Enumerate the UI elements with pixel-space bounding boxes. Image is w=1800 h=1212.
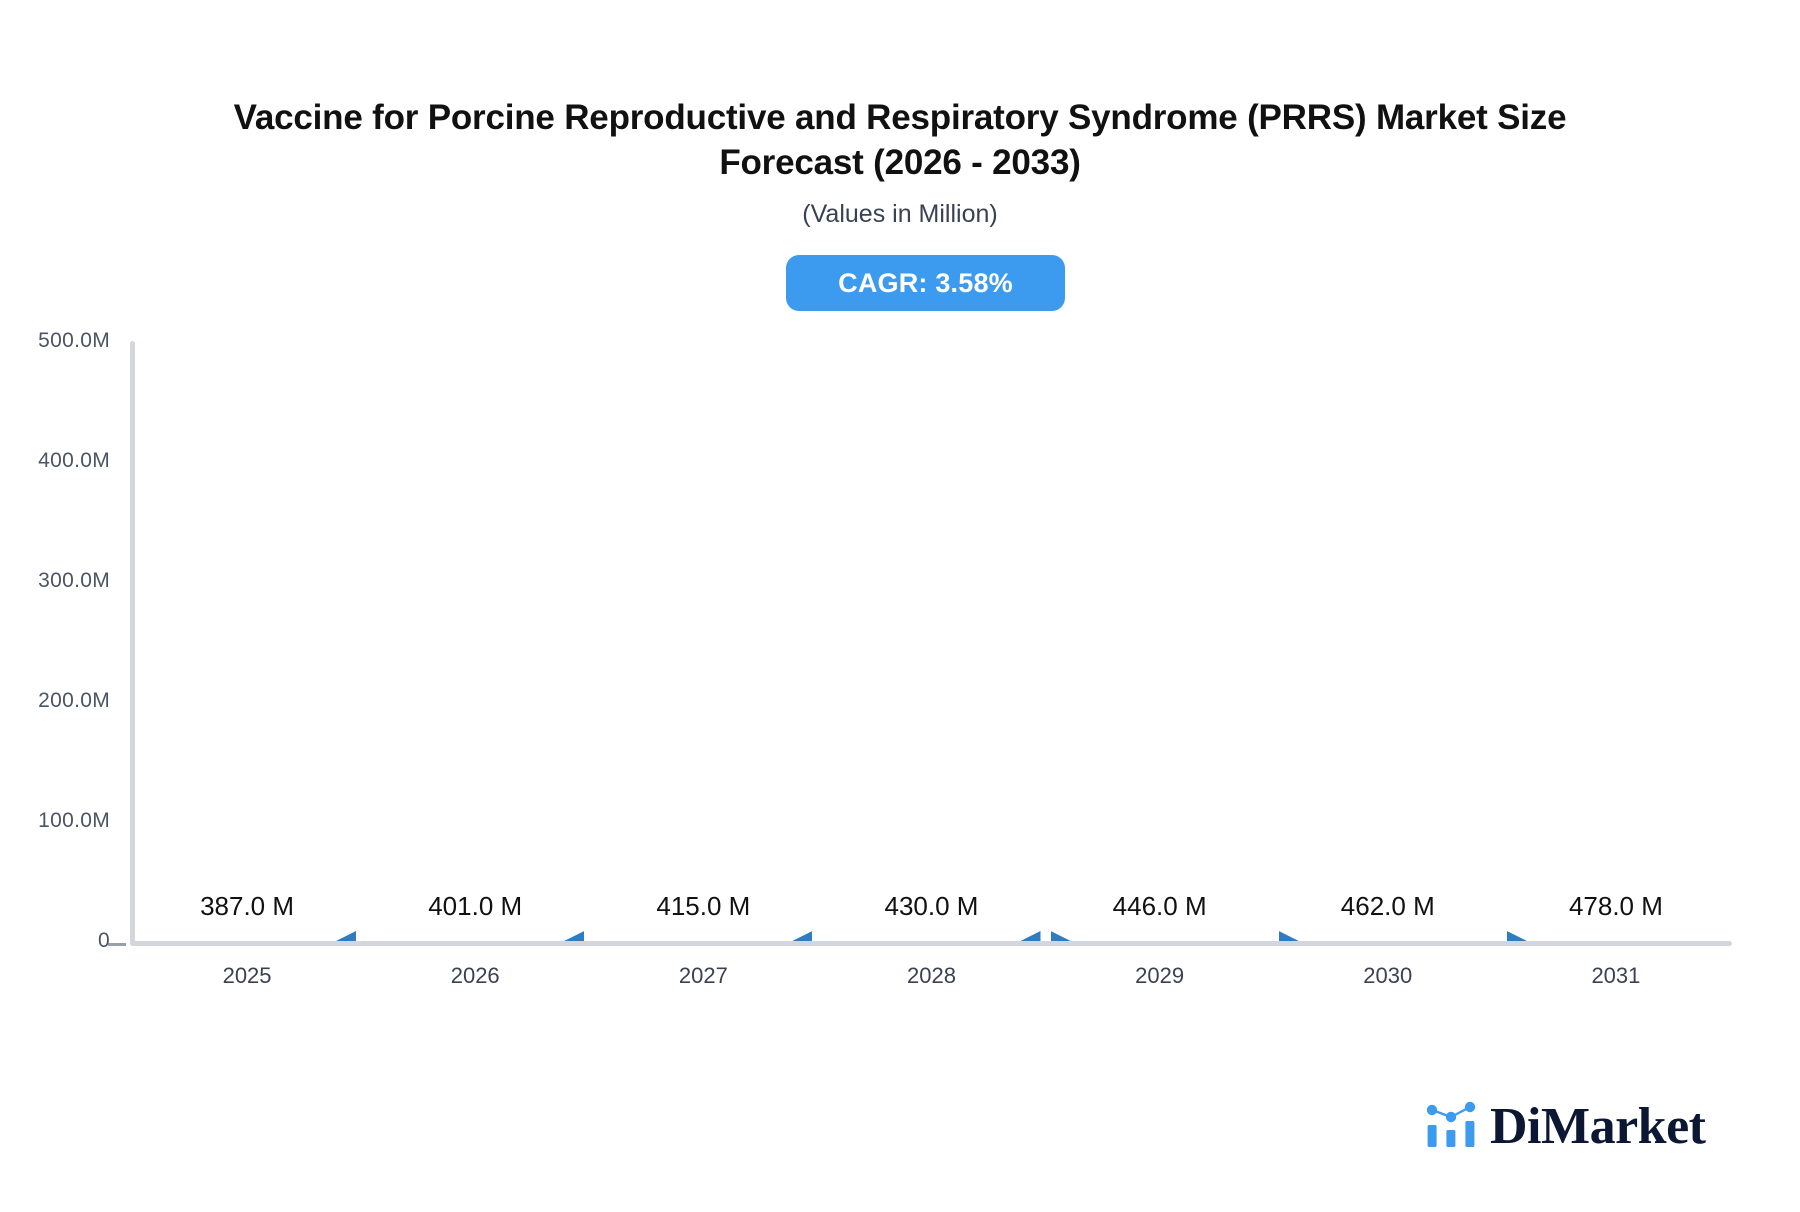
brand-logo: DiMarket — [1424, 1099, 1705, 1154]
x-axis-tick-label: 2030 — [1278, 963, 1498, 989]
bar-value-label: 462.0 M — [1258, 891, 1518, 922]
bar-side-face — [1507, 931, 1527, 941]
bar-value-label: 446.0 M — [1030, 891, 1290, 922]
y-axis-tick-label: 400.0M — [0, 449, 110, 473]
y-axis-line — [130, 341, 135, 945]
bar-side-face — [1021, 931, 1041, 941]
x-axis-tick-label: 2026 — [365, 963, 585, 989]
x-axis-tick-label: 2027 — [593, 963, 813, 989]
x-axis-tick-label: 2028 — [822, 963, 1042, 989]
y-axis-tick-label: 500.0M — [0, 329, 110, 353]
bar-value-label: 478.0 M — [1486, 891, 1746, 922]
brand-name: DiMarket — [1490, 1101, 1705, 1153]
bar-side-face — [336, 931, 356, 941]
bar-side-face — [792, 931, 812, 941]
bar-value-label: 401.0 M — [345, 891, 605, 922]
y-axis-tick-label: 300.0M — [0, 569, 110, 593]
bar-value-label: 415.0 M — [573, 891, 833, 922]
x-axis-line — [130, 941, 1732, 946]
x-axis-tick-label: 2025 — [137, 963, 357, 989]
bar-side-face — [1279, 931, 1299, 941]
x-axis-tick-label: 2031 — [1506, 963, 1726, 989]
bar-value-label: 387.0 M — [117, 891, 377, 922]
y-axis-tick-label: 100.0M — [0, 809, 110, 833]
bar-value-label: 430.0 M — [802, 891, 1062, 922]
bar-side-face — [564, 931, 584, 941]
chart-plot-area: 500.0M400.0M300.0M200.0M100.0M0 387.0 M4… — [0, 0, 1800, 1212]
bar-side-face — [1051, 931, 1071, 941]
y-axis-zero-tick — [108, 943, 126, 946]
x-axis-tick-label: 2029 — [1050, 963, 1270, 989]
y-axis-tick-label: 200.0M — [0, 689, 110, 713]
y-axis-tick-label: 0 — [0, 929, 110, 953]
bar-chart-logo-icon — [1424, 1099, 1478, 1154]
